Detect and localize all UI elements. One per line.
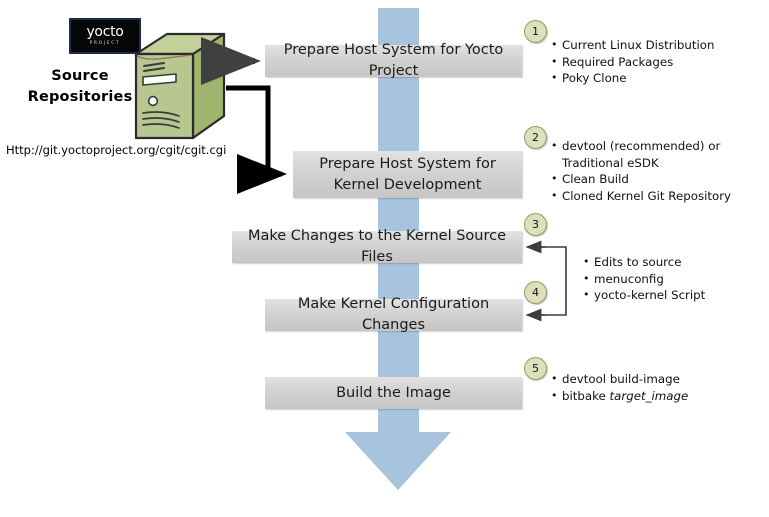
step3-step4-shared-notes: Edits to source menuconfig yocto-kernel …	[581, 254, 761, 304]
step5-note-italic-target: target_image	[610, 389, 689, 403]
step-box-build-the-image[interactable]: Build the Image	[265, 377, 522, 409]
source-repositories-url: Http://git.yoctoproject.org/cgit/cgit.cg…	[6, 143, 226, 157]
shared-note-item: yocto-kernel Script	[594, 287, 761, 304]
step-box-prepare-host-kernel[interactable]: Prepare Host System for Kernel Developme…	[293, 151, 522, 198]
step5-note-item: bitbake target_image	[562, 388, 761, 405]
step-box-prepare-host-yocto[interactable]: Prepare Host System for Yocto Project	[265, 45, 522, 77]
yocto-project-logo: yocto PROJECT	[69, 18, 141, 54]
step5-notes: devtool build-image bitbake target_image	[549, 371, 761, 404]
step-box-make-kernel-config-changes[interactable]: Make Kernel Configuration Changes	[265, 299, 522, 331]
source-repositories-label-line2: Repositories	[20, 87, 140, 108]
step1-note-item: Poky Clone	[562, 70, 761, 87]
step5-note-prefix: bitbake	[562, 389, 610, 403]
step1-note-item: Required Packages	[562, 54, 761, 71]
step-number-5: 5	[524, 357, 547, 380]
shared-note-item: Edits to source	[594, 254, 761, 271]
server-tower-icon	[134, 32, 226, 140]
step-number-3: 3	[524, 213, 547, 236]
source-repositories-label: Source Repositories	[20, 66, 140, 108]
step-number-4: 4	[524, 281, 547, 304]
shared-note-item: menuconfig	[594, 271, 761, 288]
step-box-make-kernel-source-changes[interactable]: Make Changes to the Kernel Source Files	[232, 231, 522, 263]
yocto-logo-wordmark: yocto	[86, 25, 123, 39]
step2-notes: devtool (recommended) or Traditional eSD…	[549, 138, 764, 204]
step2-note-item: Clean Build	[562, 171, 764, 188]
source-repositories-label-line1: Source	[20, 66, 140, 87]
step2-note-item: Cloned Kernel Git Repository	[562, 188, 764, 205]
diagram-canvas: yocto PROJECT Source Repositories Http:/…	[0, 0, 769, 517]
step1-note-item: Current Linux Distribution	[562, 37, 761, 54]
step2-note-item: devtool (recommended) or Traditional eSD…	[562, 138, 764, 171]
step1-notes: Current Linux Distribution Required Pack…	[549, 37, 761, 87]
yocto-logo-subtext: PROJECT	[90, 40, 121, 47]
connector-source-to-step2	[226, 88, 282, 174]
step-number-2: 2	[524, 126, 547, 149]
step-number-1: 1	[524, 20, 547, 43]
main-flow-arrow-head	[345, 432, 451, 490]
step5-note-item: devtool build-image	[562, 371, 761, 388]
